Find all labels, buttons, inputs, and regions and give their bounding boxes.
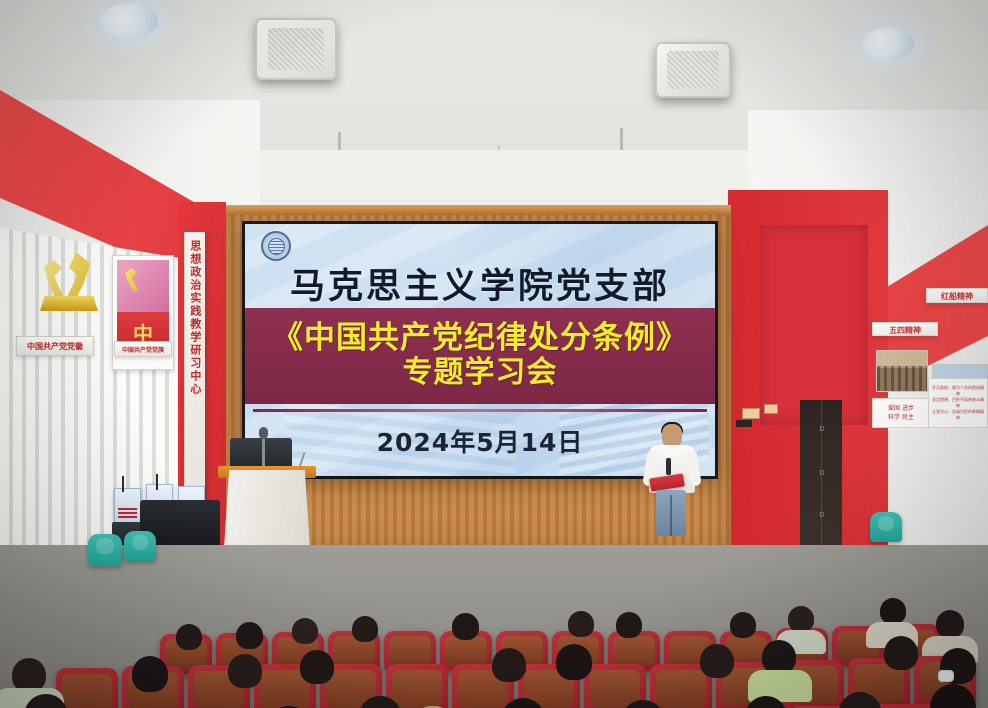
auditorium-seat[interactable] xyxy=(56,668,118,708)
red-wall-inset xyxy=(760,225,868,425)
wall-marker xyxy=(742,408,760,419)
door-label: D xyxy=(819,512,824,519)
slide-subtitle-line1: 《中国共产党纪律处分条例》 xyxy=(272,322,688,355)
hammer-and-sickle-emblem xyxy=(38,252,102,314)
presenter-head xyxy=(662,424,682,447)
slide-subtitle-band: 《中国共产党纪律处分条例》 专题学习会 xyxy=(245,308,715,404)
vertical-banner-text: 思想政治实践教学研习中心 xyxy=(188,240,202,396)
may-fourth-movement-photo xyxy=(876,350,928,392)
auditorium-photo: D D D 马克思主义学院党支部 《中国共产党纪律处分条例》 专题学习会 202… xyxy=(0,0,988,708)
slide-subtitle-line2: 专题学习会 xyxy=(403,356,558,390)
side-door[interactable]: D D D xyxy=(800,400,842,545)
board-title-red-boat: 红船精神 xyxy=(927,291,987,302)
caption-line-2: 科学 民主 xyxy=(888,413,914,422)
caption-line-1: 爱国 进步 xyxy=(888,404,914,413)
ac-cassette-unit xyxy=(255,18,337,80)
board-title-plate-may-fourth: 五四精神 xyxy=(872,322,938,336)
handheld-microphone xyxy=(666,458,671,475)
wall-marker xyxy=(736,420,752,427)
university-seal-emblem xyxy=(261,231,291,261)
podium-microphone xyxy=(262,432,265,466)
ac-cassette-unit xyxy=(655,42,731,98)
wall-marker xyxy=(764,404,778,414)
board-title-plate-red-boat: 红船精神 xyxy=(926,288,988,303)
door-label: D xyxy=(819,426,824,433)
poster-plaque: 中国共产党党旗 xyxy=(114,341,172,357)
teal-chair[interactable] xyxy=(870,512,902,542)
caption-line-3: 立党为公、忠诚为民的奉献精神 xyxy=(932,409,984,421)
board-caption-red-boat: 开天辟地、敢为人先的首创精神 坚定理想、百折不挠的奋斗精神 立党为公、忠诚为民的… xyxy=(928,378,988,428)
emblem-plaque: 中国共产党党徽 xyxy=(16,336,94,356)
brochure-card xyxy=(114,488,141,526)
board-caption-may-fourth: 爱国 进步 科学 民主 xyxy=(872,398,930,428)
caption-line-2: 坚定理想、百折不挠的奋斗精神 xyxy=(932,397,984,409)
door-label: D xyxy=(819,470,824,477)
dome-light xyxy=(100,4,158,38)
wood-trim xyxy=(226,205,731,215)
poster-plaque-label: 中国共产党党旗 xyxy=(122,345,164,354)
slide-title: 马克思主义学院党支部 xyxy=(245,258,715,309)
face-mask xyxy=(938,670,954,682)
teal-chair[interactable] xyxy=(88,534,122,566)
lectern xyxy=(224,470,310,548)
slide-divider xyxy=(253,409,707,412)
teal-chair[interactable] xyxy=(124,531,156,561)
presenter-jeans xyxy=(656,490,686,536)
speaker-presenting xyxy=(645,424,699,536)
board-title-may-fourth: 五四精神 xyxy=(873,325,937,336)
vertical-banner: 思想政治实践教学研习中心 xyxy=(184,232,205,514)
emblem-plaque-label: 中国共产党党徽 xyxy=(27,341,83,352)
caption-line-1: 开天辟地、敢为人先的首创精神 xyxy=(932,385,984,397)
dome-light xyxy=(862,28,914,60)
